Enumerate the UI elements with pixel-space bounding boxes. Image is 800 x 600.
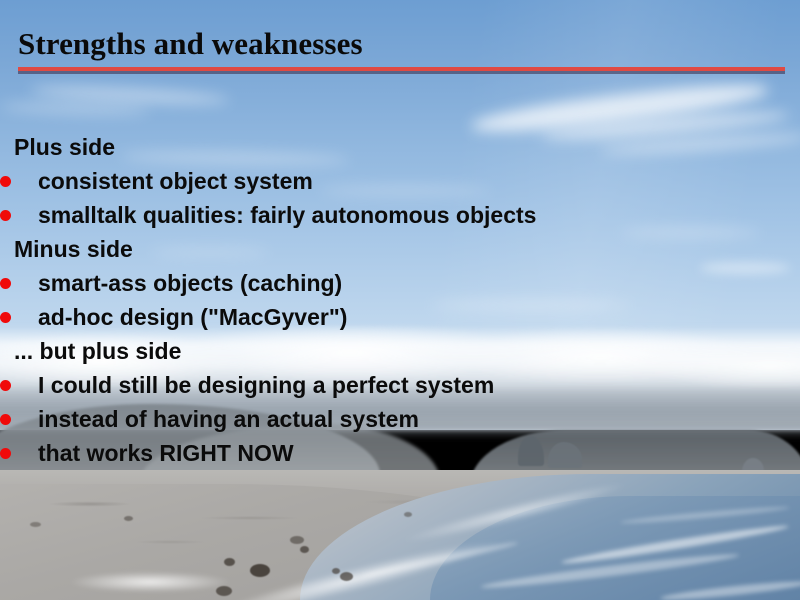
body-heading-line: ... but plus side [0, 334, 800, 368]
bullet-point-icon [0, 278, 11, 289]
slide-body-list: Plus sideconsistent object systemsmallta… [0, 130, 800, 470]
body-bullet-line: consistent object system [0, 164, 800, 198]
body-bullet-line: instead of having an actual system [0, 402, 800, 436]
body-bullet-line: that works RIGHT NOW [0, 436, 800, 470]
body-bullet-line: I could still be designing a perfect sys… [0, 368, 800, 402]
bullet-point-icon [0, 414, 11, 425]
body-bullet-line: ad-hoc design ("MacGyver") [0, 300, 800, 334]
body-line-text: consistent object system [38, 164, 313, 198]
body-heading-line: Plus side [0, 130, 800, 164]
bullet-point-icon [0, 176, 11, 187]
body-line-text: ad-hoc design ("MacGyver") [38, 300, 347, 334]
body-bullet-line: smalltalk qualities: fairly autonomous o… [0, 198, 800, 232]
bullet-point-icon [0, 380, 11, 391]
body-heading-line: Minus side [0, 232, 800, 266]
slide-title: Strengths and weaknesses [18, 26, 363, 62]
body-line-text: smart-ass objects (caching) [38, 266, 342, 300]
bullet-point-icon [0, 448, 11, 459]
body-line-text: Minus side [14, 236, 133, 262]
bullet-point-icon [0, 312, 11, 323]
body-line-text: ... but plus side [14, 338, 181, 364]
bullet-point-icon [0, 210, 11, 221]
title-underline-rule [18, 67, 785, 71]
body-line-text: instead of having an actual system [38, 402, 419, 436]
presentation-slide: Strengths and weaknesses Plus sideconsis… [0, 0, 800, 600]
body-line-text: Plus side [14, 134, 115, 160]
body-bullet-line: smart-ass objects (caching) [0, 266, 800, 300]
body-line-text: I could still be designing a perfect sys… [38, 368, 494, 402]
body-line-text: that works RIGHT NOW [38, 436, 294, 470]
slide-content: Strengths and weaknesses Plus sideconsis… [0, 0, 800, 600]
body-line-text: smalltalk qualities: fairly autonomous o… [38, 198, 536, 232]
